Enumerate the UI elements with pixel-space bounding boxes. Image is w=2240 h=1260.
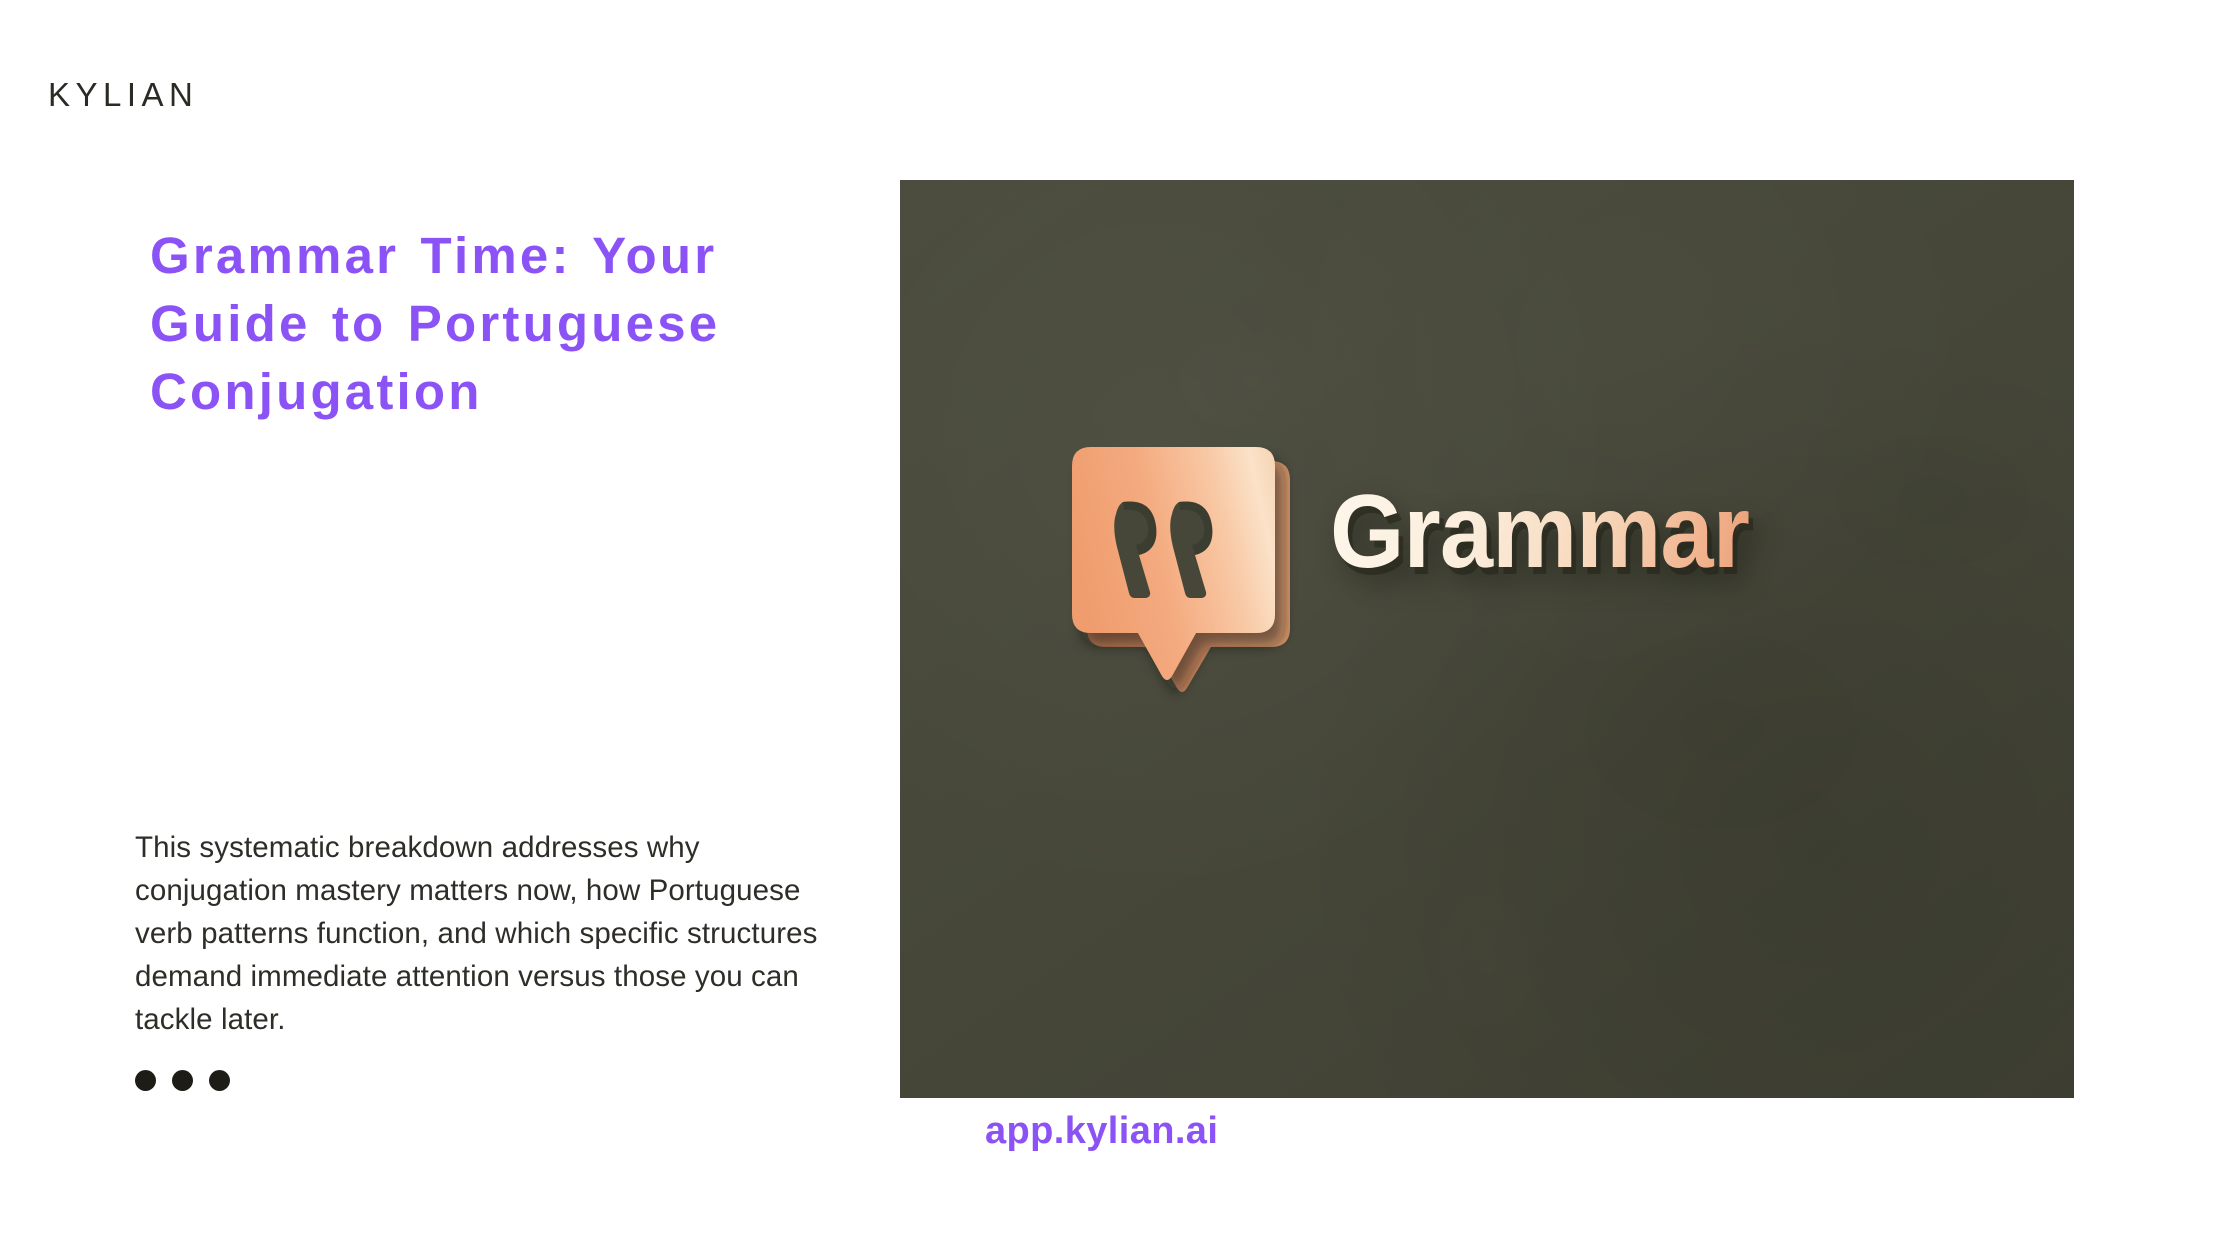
dot-indicator-2[interactable]	[172, 1070, 193, 1091]
slide-indicator-dots	[135, 1070, 230, 1091]
left-content-column: Grammar Time: Your Guide to Portuguese C…	[0, 0, 900, 1260]
quote-speech-bubble-icon	[1060, 440, 1290, 700]
grammar-wordmark: Grammar	[1330, 480, 1749, 584]
dot-indicator-3[interactable]	[209, 1070, 230, 1091]
site-url-link[interactable]: app.kylian.ai	[985, 1112, 1218, 1150]
hero-image-panel: Grammar	[900, 180, 2074, 1098]
hero-description: This systematic breakdown addresses why …	[135, 826, 825, 1041]
page-title: Grammar Time: Your Guide to Portuguese C…	[150, 222, 770, 426]
dot-indicator-1[interactable]	[135, 1070, 156, 1091]
